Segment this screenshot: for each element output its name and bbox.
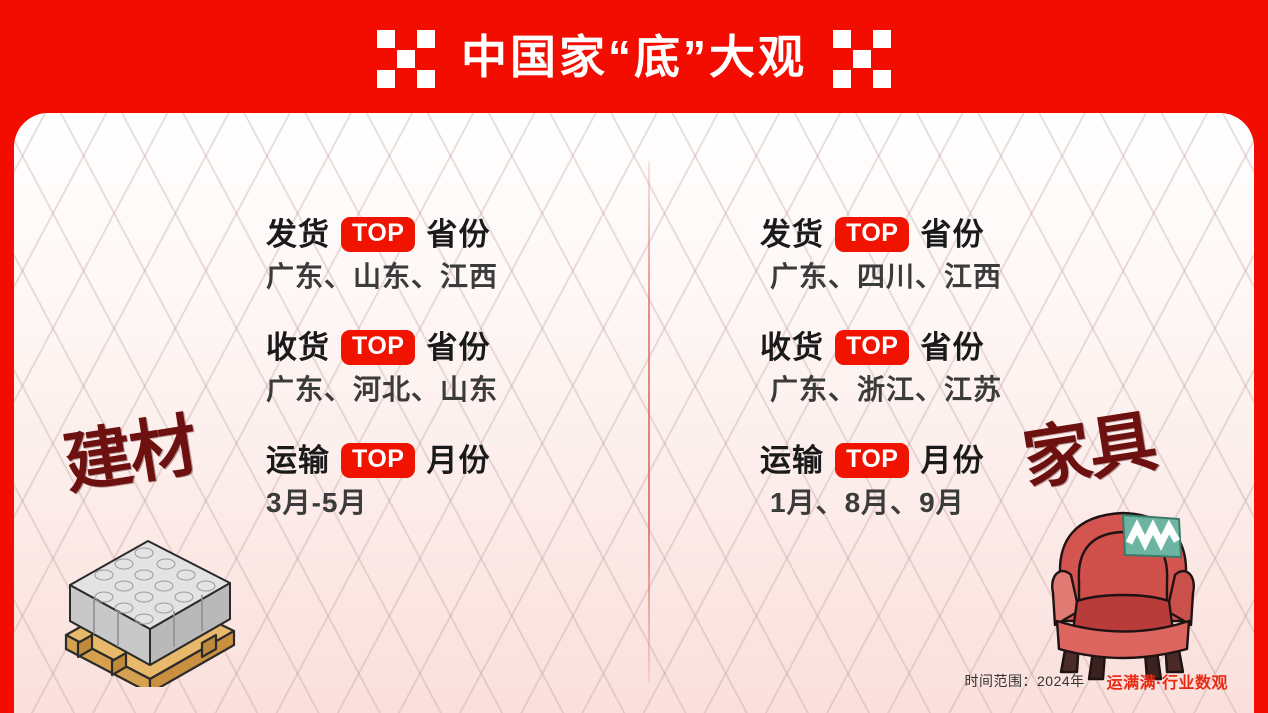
stat-heading: 收货 TOP 省份 — [266, 330, 498, 365]
stat-value: 1月、8月、9月 — [760, 487, 1002, 519]
checker-squares-icon — [377, 30, 435, 88]
column-furniture: 发货 TOP 省份 广东、四川、江西 收货 TOP 省份 广东、浙江、江苏 — [634, 113, 1254, 713]
content-card: 建材 — [14, 113, 1254, 713]
checker-squares-icon-right — [833, 30, 891, 88]
stat-row: 运输 TOP 月份 3月-5月 — [266, 443, 498, 519]
top-badge: TOP — [835, 217, 909, 252]
building-materials-illustration: 建材 — [42, 409, 257, 709]
stat-label-suffix: 月份 — [426, 445, 490, 476]
stat-label-suffix: 省份 — [426, 332, 490, 363]
top-badge: TOP — [341, 330, 415, 365]
stat-value: 广东、山东、江西 — [266, 261, 498, 293]
stat-row: 发货 TOP 省份 广东、四川、江西 — [760, 217, 1002, 293]
stats-building-materials: 发货 TOP 省份 广东、山东、江西 收货 TOP 省份 广东、河北、山东 — [266, 217, 498, 520]
top-badge: TOP — [835, 330, 909, 365]
armchair-illustration — [1031, 489, 1216, 689]
poster-header: 中国家“底”大观 — [0, 0, 1268, 118]
stat-value: 3月-5月 — [266, 487, 498, 519]
stat-label-suffix: 月份 — [920, 445, 984, 476]
brick-pallet-illustration — [52, 517, 247, 692]
top-badge: TOP — [341, 443, 415, 478]
time-range-label: 时间范围：2024年 — [965, 671, 1085, 691]
stat-row: 收货 TOP 省份 广东、河北、山东 — [266, 330, 498, 406]
stat-row: 收货 TOP 省份 广东、浙江、江苏 — [760, 330, 1002, 406]
stats-furniture: 发货 TOP 省份 广东、四川、江西 收货 TOP 省份 广东、浙江、江苏 — [760, 217, 1002, 520]
stat-label-prefix: 运输 — [760, 445, 824, 476]
category-label-building-materials: 建材 — [60, 413, 200, 497]
stat-label-prefix: 发货 — [760, 219, 824, 250]
stat-heading: 运输 TOP 月份 — [266, 443, 498, 478]
poster-footer: 时间范围：2024年 运满满·行业数观 — [965, 669, 1229, 693]
stat-label-prefix: 运输 — [266, 445, 330, 476]
stat-label-suffix: 省份 — [920, 219, 984, 250]
stat-label-prefix: 收货 — [266, 332, 330, 363]
stat-label-prefix: 发货 — [266, 219, 330, 250]
stat-heading: 发货 TOP 省份 — [760, 217, 1002, 252]
category-label-furniture: 家具 — [1019, 409, 1159, 493]
stat-row: 发货 TOP 省份 广东、山东、江西 — [266, 217, 498, 293]
stat-value: 广东、四川、江西 — [760, 261, 1002, 293]
stat-heading: 发货 TOP 省份 — [266, 217, 498, 252]
stat-value: 广东、浙江、江苏 — [760, 374, 1002, 406]
brand-logo-text: 运满满·行业数观 — [1107, 669, 1228, 693]
stat-heading: 运输 TOP 月份 — [760, 443, 1002, 478]
furniture-illustration: 家具 — [1017, 409, 1232, 709]
stat-label-suffix: 省份 — [426, 219, 490, 250]
top-badge: TOP — [341, 217, 415, 252]
stat-label-suffix: 省份 — [920, 332, 984, 363]
stat-label-prefix: 收货 — [760, 332, 824, 363]
top-badge: TOP — [835, 443, 909, 478]
column-building-materials: 建材 — [14, 113, 634, 713]
stat-row: 运输 TOP 月份 1月、8月、9月 — [760, 443, 1002, 519]
stat-heading: 收货 TOP 省份 — [760, 330, 1002, 365]
page-title: 中国家“底”大观 — [461, 34, 807, 84]
columns-container: 建材 — [14, 113, 1254, 713]
poster: 中国家“底”大观 建材 — [0, 0, 1268, 713]
stat-value: 广东、河北、山东 — [266, 374, 498, 406]
